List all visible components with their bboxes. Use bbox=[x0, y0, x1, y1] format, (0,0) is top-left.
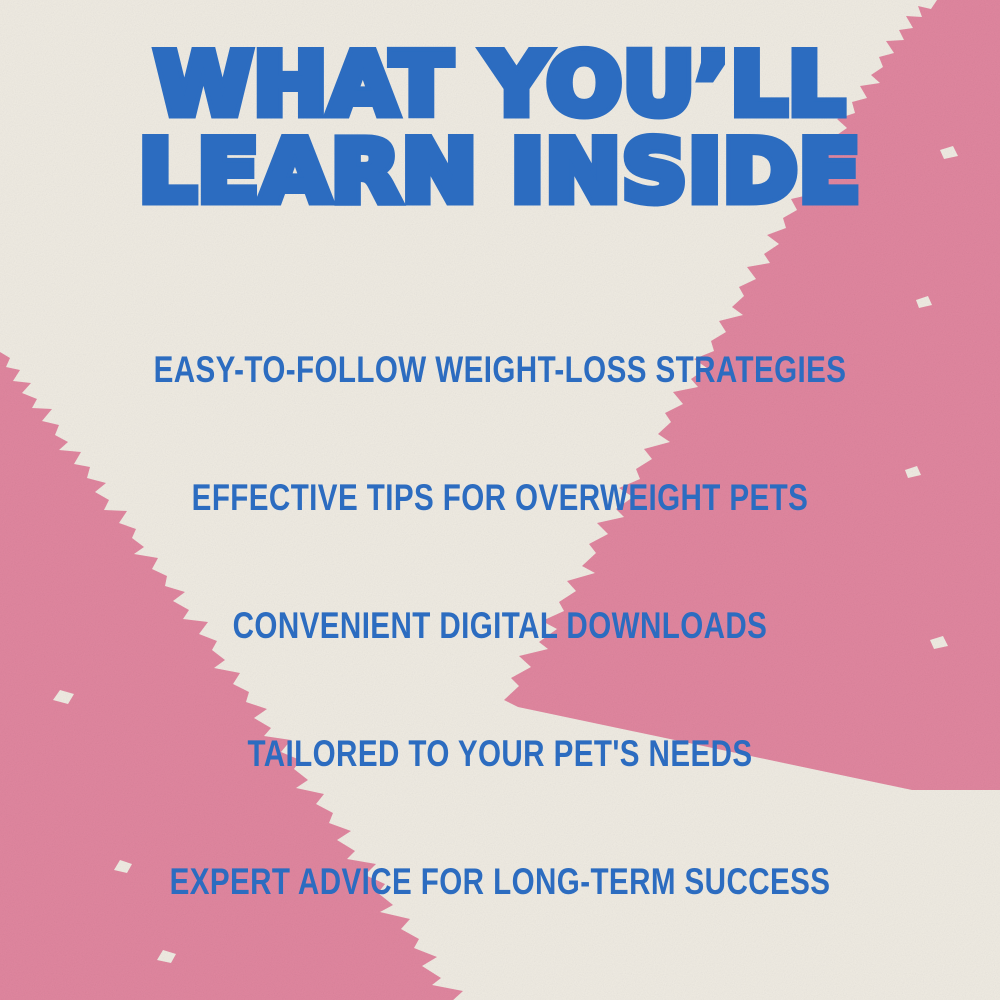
page-title-line-1: WHAT YOU’LL bbox=[0, 44, 1000, 127]
benefit-list-item: EASY-TO-FOLLOW WEIGHT-LOSS STRATEGIES bbox=[100, 305, 900, 433]
page-title-line-2: LEARN INSIDE bbox=[0, 131, 1000, 214]
poster-content: WHAT YOU’LL LEARN INSIDE EASY-TO-FOLLOW … bbox=[0, 0, 1000, 1000]
benefit-list-item: TAILORED TO YOUR PET'S NEEDS bbox=[100, 689, 900, 817]
benefit-list-item: CONVENIENT DIGITAL DOWNLOADS bbox=[100, 561, 900, 689]
page-title: WHAT YOU’LL LEARN INSIDE bbox=[0, 44, 1000, 213]
benefit-list-item: EXPERT ADVICE FOR LONG-TERM SUCCESS bbox=[100, 817, 900, 945]
benefit-list: EASY-TO-FOLLOW WEIGHT-LOSS STRATEGIES EF… bbox=[0, 305, 1000, 945]
poster-canvas: WHAT YOU’LL LEARN INSIDE EASY-TO-FOLLOW … bbox=[0, 0, 1000, 1000]
benefit-list-item: EFFECTIVE TIPS FOR OVERWEIGHT PETS bbox=[100, 433, 900, 561]
